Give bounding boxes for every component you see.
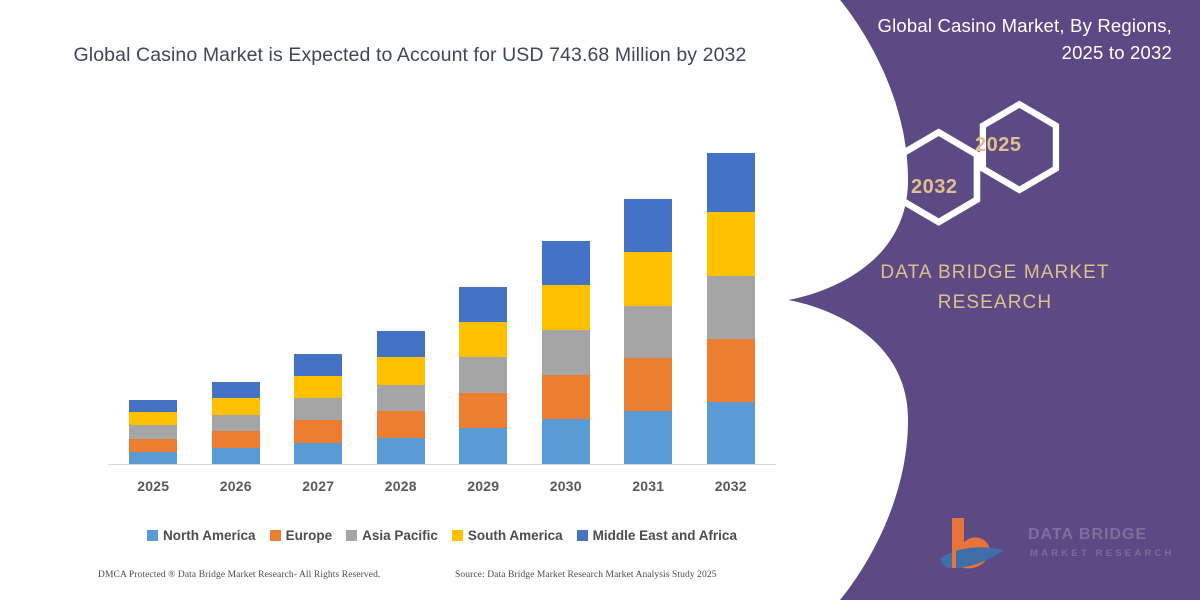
- bar-segment: [294, 398, 342, 420]
- brand-line-2: RESEARCH: [938, 292, 1052, 313]
- x-axis-tick-label: 2031: [607, 478, 689, 494]
- bar-segment: [212, 382, 260, 398]
- x-axis-tick-label: 2026: [195, 478, 277, 494]
- bar-segment: [377, 357, 425, 384]
- bar-segment: [129, 425, 177, 438]
- legend-item[interactable]: Europe: [270, 528, 333, 543]
- legend-item[interactable]: South America: [452, 528, 563, 543]
- bar-segment: [129, 400, 177, 412]
- panel-heading: Global Casino Market, By Regions, 2025 t…: [852, 12, 1172, 66]
- x-axis-line: [108, 464, 776, 465]
- page-title: Global Casino Market is Expected to Acco…: [60, 40, 760, 70]
- bar-segment: [459, 322, 507, 358]
- bar-segment: [459, 393, 507, 429]
- bar-segment: [624, 411, 672, 465]
- legend-item[interactable]: Asia Pacific: [346, 528, 438, 543]
- bar-segment: [542, 285, 590, 330]
- source-notice: Source: Data Bridge Market Research Mark…: [455, 570, 717, 580]
- stacked-bar: [294, 354, 342, 465]
- bar-segment: [459, 287, 507, 322]
- x-axis-tick-label: 2028: [360, 478, 442, 494]
- bar-segment: [624, 252, 672, 306]
- x-axis-tick-label: 2029: [442, 478, 524, 494]
- bar-segment: [294, 354, 342, 375]
- stacked-bar-group: [112, 140, 772, 465]
- x-axis-tick-label: 2030: [525, 478, 607, 494]
- bar-segment: [377, 438, 425, 465]
- brand-name: DATA BRIDGE MARKET RESEARCH: [830, 258, 1160, 318]
- bar-segment: [459, 357, 507, 393]
- stacked-bar: [459, 287, 507, 465]
- logo-tagline: MARKET RESEARCH: [1030, 548, 1175, 559]
- legend-label: South America: [468, 528, 563, 543]
- legend-swatch-icon: [346, 530, 357, 541]
- x-axis-tick-label: 2025: [112, 478, 194, 494]
- legend-swatch-icon: [577, 530, 588, 541]
- bar-segment: [212, 415, 260, 431]
- bar-segment: [542, 375, 590, 420]
- legend-swatch-icon: [452, 530, 463, 541]
- bar-segment: [129, 412, 177, 425]
- bar-segment: [377, 331, 425, 357]
- bar-segment: [294, 376, 342, 398]
- logo-mark-icon: [930, 512, 1030, 576]
- bar-segment: [294, 420, 342, 442]
- x-axis-tick-label: 2027: [277, 478, 359, 494]
- stacked-bar: [624, 199, 672, 465]
- hexagon-2032-label: 2032: [911, 176, 958, 199]
- stacked-bar: [129, 400, 177, 465]
- bar-segment: [542, 241, 590, 286]
- year-hexagons: 2032 2025: [780, 98, 1200, 228]
- chart-panel: Global Casino Market is Expected to Acco…: [0, 0, 840, 600]
- bar-segment: [212, 431, 260, 447]
- bar-segment: [624, 306, 672, 359]
- stacked-bar: [707, 153, 755, 465]
- hexagon-outlines: [780, 98, 1200, 228]
- brand-panel: Global Casino Market, By Regions, 2025 t…: [780, 0, 1200, 600]
- legend-label: Middle East and Africa: [593, 528, 737, 543]
- bar-segment: [707, 339, 755, 402]
- legend-label: Asia Pacific: [362, 528, 438, 543]
- bar-segment: [459, 428, 507, 465]
- bar-column: [277, 140, 359, 465]
- bar-segment: [377, 411, 425, 437]
- bar-segment: [542, 419, 590, 465]
- bar-column: [442, 140, 524, 465]
- legend-item[interactable]: North America: [147, 528, 256, 543]
- bar-segment: [212, 398, 260, 415]
- company-logo: DATA BRIDGE MARKET RESEARCH: [930, 512, 1195, 580]
- infographic-root: Global Casino Market is Expected to Acco…: [0, 0, 1200, 600]
- legend-swatch-icon: [147, 530, 158, 541]
- brand-line-1: DATA BRIDGE MARKET: [880, 262, 1109, 283]
- bar-segment: [212, 448, 260, 465]
- chart-plot-area: [112, 140, 772, 465]
- x-axis-tick-label: 2032: [690, 478, 772, 494]
- hexagon-2025-label: 2025: [975, 134, 1022, 157]
- bar-column: [360, 140, 442, 465]
- bar-column: [195, 140, 277, 465]
- chart-legend: North AmericaEuropeAsia PacificSouth Ame…: [112, 528, 772, 543]
- bar-column: [607, 140, 689, 465]
- legend-item[interactable]: Middle East and Africa: [577, 528, 737, 543]
- brand-panel-content: Global Casino Market, By Regions, 2025 t…: [780, 0, 1200, 600]
- legend-label: North America: [163, 528, 256, 543]
- bar-segment: [707, 402, 755, 465]
- bar-segment: [129, 439, 177, 452]
- x-axis-tick-labels: 20252026202720282029203020312032: [112, 474, 772, 498]
- legend-swatch-icon: [270, 530, 281, 541]
- bar-segment: [294, 443, 342, 465]
- bar-column: [112, 140, 194, 465]
- bar-segment: [707, 212, 755, 276]
- bar-column: [525, 140, 607, 465]
- bar-segment: [624, 199, 672, 252]
- bar-segment: [707, 276, 755, 339]
- stacked-bar: [212, 382, 260, 465]
- bar-segment: [377, 385, 425, 411]
- legend-label: Europe: [286, 528, 333, 543]
- logo-wordmark: DATA BRIDGE: [1028, 526, 1147, 544]
- bar-segment: [542, 330, 590, 375]
- stacked-bar: [542, 241, 590, 465]
- bar-segment: [707, 153, 755, 212]
- dmca-notice: DMCA Protected ® Data Bridge Market Rese…: [98, 570, 380, 580]
- bar-segment: [624, 358, 672, 411]
- stacked-bar: [377, 331, 425, 465]
- bar-column: [690, 140, 772, 465]
